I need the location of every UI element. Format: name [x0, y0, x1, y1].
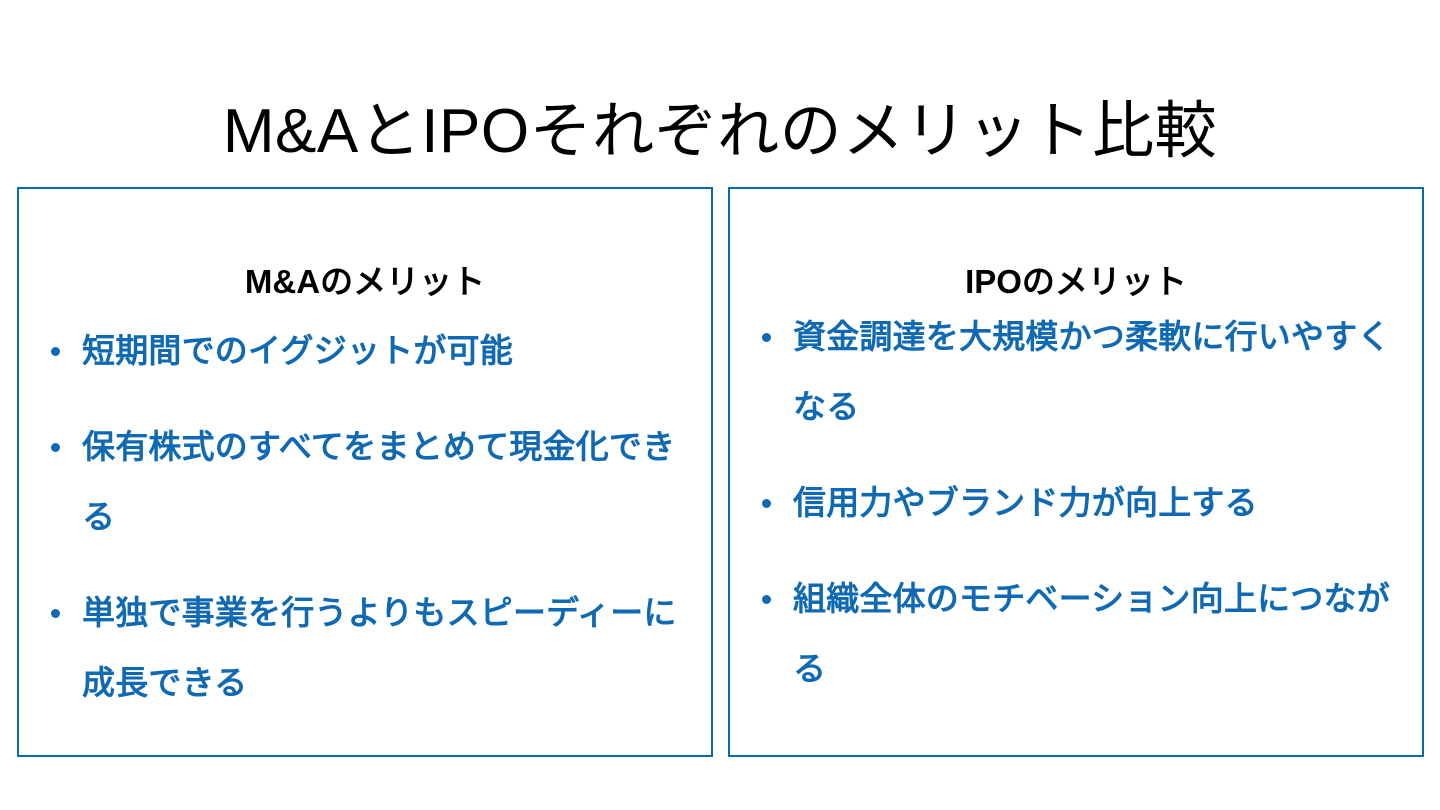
list-item: 単独で事業を行うよりもスピーディーに成長できる	[37, 578, 697, 718]
page-title: M&AとIPOそれぞれのメリット比較	[0, 94, 1440, 170]
list-item-label: 単独で事業を行うよりもスピーディーに成長できる	[82, 578, 697, 718]
card-heading-ma: M&Aのメリット	[19, 263, 711, 301]
round-bullet-icon	[51, 609, 60, 618]
list-item: 資金調達を大規模かつ柔軟に行いやすくなる	[748, 302, 1408, 442]
bullet-list-ipo: 資金調達を大規模かつ柔軟に行いやすくなる 信用力やブランド力が向上する 組織全体…	[748, 302, 1408, 704]
list-item-label: 信用力やブランド力が向上する	[793, 468, 1408, 538]
card-ipo-merits: IPOのメリット 資金調達を大規模かつ柔軟に行いやすくなる 信用力やブランド力が…	[728, 187, 1424, 757]
card-ma-merits: M&Aのメリット 短期間でのイグジットが可能 保有株式のすべてをまとめて現金化で…	[17, 187, 713, 757]
round-bullet-icon	[51, 443, 60, 452]
round-bullet-icon	[762, 595, 771, 604]
list-item-label: 保有株式のすべてをまとめて現金化できる	[82, 412, 697, 552]
list-item: 組織全体のモチベーション向上につながる	[748, 564, 1408, 704]
list-item-label: 短期間でのイグジットが可能	[82, 316, 697, 386]
list-item: 信用力やブランド力が向上する	[748, 468, 1408, 538]
round-bullet-icon	[762, 333, 771, 342]
card-heading-ipo: IPOのメリット	[730, 263, 1422, 301]
list-item-label: 資金調達を大規模かつ柔軟に行いやすくなる	[793, 302, 1408, 442]
slide-canvas: M&AとIPOそれぞれのメリット比較 M&Aのメリット 短期間でのイグジットが可…	[0, 0, 1440, 810]
bullet-list-ma: 短期間でのイグジットが可能 保有株式のすべてをまとめて現金化できる 単独で事業を…	[37, 316, 697, 718]
round-bullet-icon	[762, 499, 771, 508]
round-bullet-icon	[51, 347, 60, 356]
list-item: 短期間でのイグジットが可能	[37, 316, 697, 386]
list-item: 保有株式のすべてをまとめて現金化できる	[37, 412, 697, 552]
comparison-cards-row: M&Aのメリット 短期間でのイグジットが可能 保有株式のすべてをまとめて現金化で…	[17, 187, 1424, 757]
list-item-label: 組織全体のモチベーション向上につながる	[793, 564, 1408, 704]
